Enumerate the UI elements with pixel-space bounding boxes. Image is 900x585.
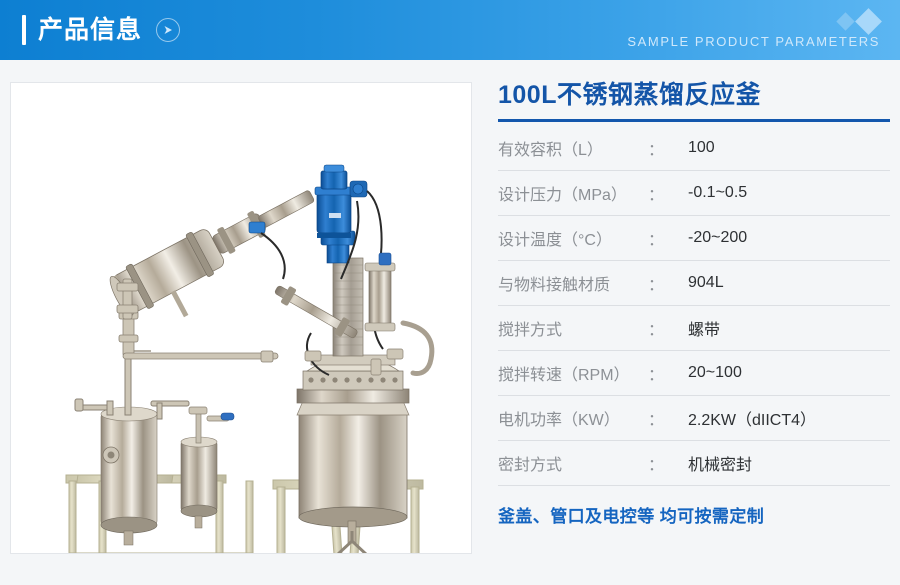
spec-value: 20~100 <box>688 364 890 382</box>
spec-row: 密封方式 ： 机械密封 <box>498 441 890 486</box>
spec-value: -20~200 <box>688 229 890 247</box>
diamond-decoration <box>839 12 878 31</box>
spec-value: 100 <box>688 139 890 157</box>
spec-value: 904L <box>688 274 890 292</box>
product-photo <box>11 83 471 553</box>
header-right-group: SAMPLE PRODUCT PARAMETERS <box>627 0 880 60</box>
product-image-panel <box>10 82 472 554</box>
spec-label: 设计温度（°C） <box>498 226 648 250</box>
page-title: 产品信息 <box>38 18 142 43</box>
spec-row: 搅拌转速（RPM） ： 20~100 <box>498 351 890 396</box>
spec-label: 搅拌转速（RPM） <box>498 361 648 385</box>
spec-colon: ： <box>648 136 688 160</box>
play-arrow-icon[interactable] <box>156 18 180 42</box>
customization-note: 釜盖、管口及电控等 均可按需定制 <box>498 502 890 527</box>
spec-value: -0.1~0.5 <box>688 184 890 202</box>
spec-colon: ： <box>648 406 688 430</box>
spec-colon: ： <box>648 316 688 340</box>
spec-label: 密封方式 <box>498 451 648 475</box>
spec-panel: 100L不锈钢蒸馏反应釜 有效容积（L） ： 100 设计压力（MPa） ： -… <box>498 82 890 527</box>
page-header: 产品信息 SAMPLE PRODUCT PARAMETERS <box>0 0 900 60</box>
header-subtitle: SAMPLE PRODUCT PARAMETERS <box>627 34 880 49</box>
diamond-small-icon <box>836 12 854 30</box>
product-name: 100L不锈钢蒸馏反应釜 <box>498 82 890 119</box>
spec-colon: ： <box>648 271 688 295</box>
spec-label: 电机功率（KW） <box>498 406 648 430</box>
accent-bar <box>22 15 26 45</box>
spec-label: 设计压力（MPa） <box>498 181 648 205</box>
spec-value: 2.2KW（dIICT4） <box>688 406 890 430</box>
product-info-page: 产品信息 SAMPLE PRODUCT PARAMETERS <box>0 0 900 585</box>
diamond-large-icon <box>855 8 882 35</box>
spec-label: 有效容积（L） <box>498 136 648 160</box>
spec-row: 设计温度（°C） ： -20~200 <box>498 216 890 261</box>
spec-label: 与物料接触材质 <box>498 271 648 295</box>
header-left-group: 产品信息 <box>22 0 180 60</box>
spec-row: 电机功率（KW） ： 2.2KW（dIICT4） <box>498 396 890 441</box>
spec-table: 有效容积（L） ： 100 设计压力（MPa） ： -0.1~0.5 设计温度（… <box>498 126 890 486</box>
spec-row: 有效容积（L） ： 100 <box>498 126 890 171</box>
spec-value: 机械密封 <box>688 451 890 475</box>
spec-row: 搅拌方式 ： 螺带 <box>498 306 890 351</box>
spec-colon: ： <box>648 451 688 475</box>
spec-colon: ： <box>648 361 688 385</box>
spec-colon: ： <box>648 226 688 250</box>
spec-colon: ： <box>648 181 688 205</box>
title-underline <box>498 119 890 122</box>
spec-row: 与物料接触材质 ： 904L <box>498 261 890 306</box>
spec-row: 设计压力（MPa） ： -0.1~0.5 <box>498 171 890 216</box>
spec-value: 螺带 <box>688 316 890 340</box>
spec-label: 搅拌方式 <box>498 316 648 340</box>
